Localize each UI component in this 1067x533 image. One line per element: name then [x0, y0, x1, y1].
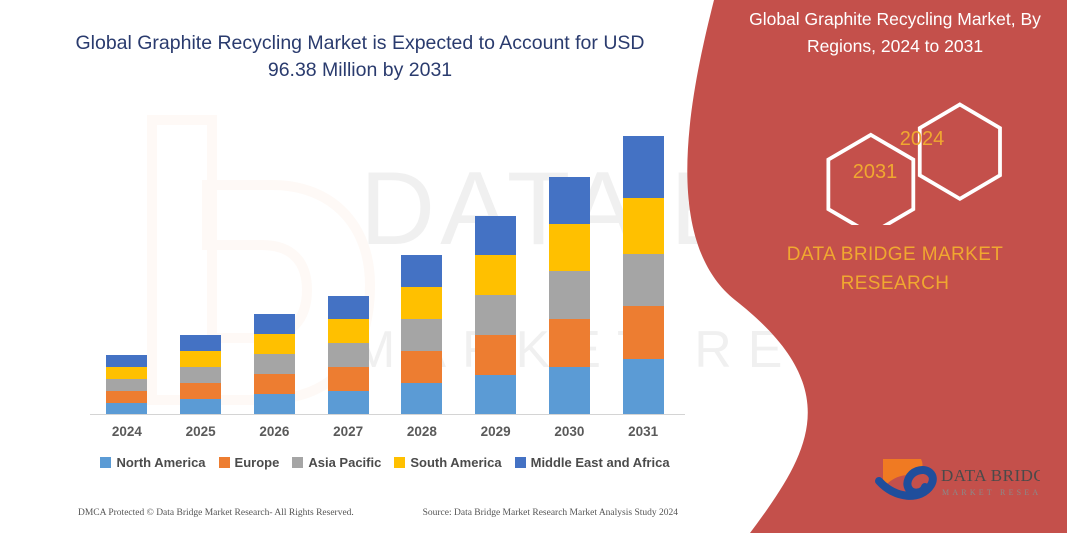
hexagon-2024-label: 2024: [900, 128, 945, 150]
bar-segment: [328, 319, 369, 343]
bar-segment: [180, 383, 221, 399]
legend-swatch-icon: [394, 457, 405, 468]
bar-segment: [549, 224, 590, 271]
footer-source: Source: Data Bridge Market Research Mark…: [423, 508, 678, 518]
bar-segment: [475, 255, 516, 295]
legend-item[interactable]: Middle East and Africa: [515, 455, 670, 470]
hexagon-group: 2024 2031: [680, 95, 1067, 225]
x-tick-label: 2025: [166, 424, 236, 439]
bar-segment: [180, 399, 221, 415]
bar-segment: [328, 367, 369, 391]
bar-segment: [401, 319, 442, 351]
logo-svg: DATA BRIDGE MARKET RESEARCH: [875, 455, 1040, 507]
bar-segment: [623, 306, 664, 359]
bar-segment: [623, 136, 664, 198]
bar-segment: [328, 296, 369, 319]
logo-text-line-2: MARKET RESEARCH: [942, 488, 1040, 497]
bar-segment: [254, 394, 295, 415]
bar-segment: [549, 367, 590, 415]
x-tick-label: 2031: [608, 424, 678, 439]
bar-segment: [254, 314, 295, 334]
x-tick-label: 2024: [92, 424, 162, 439]
data-bridge-logo: DATA BRIDGE MARKET RESEARCH: [875, 455, 1040, 507]
logo-text-line-1: DATA BRIDGE: [941, 466, 1040, 485]
bar-segment: [623, 198, 664, 254]
brand-line-1: DATA BRIDGE MARKET: [750, 240, 1040, 269]
x-tick-label: 2029: [461, 424, 531, 439]
x-tick-label: 2027: [313, 424, 383, 439]
bar-segment: [106, 367, 147, 379]
bar-column: [180, 335, 221, 415]
legend-swatch-icon: [100, 457, 111, 468]
legend-swatch-icon: [515, 457, 526, 468]
legend-item[interactable]: Asia Pacific: [292, 455, 381, 470]
x-tick-label: 2028: [387, 424, 457, 439]
bar-segment: [401, 255, 442, 287]
bar-segment: [549, 177, 590, 224]
legend-swatch-icon: [219, 457, 230, 468]
legend-item-label: Middle East and Africa: [531, 455, 670, 470]
footer: DMCA Protected © Data Bridge Market Rese…: [78, 508, 678, 518]
legend-swatch-icon: [292, 457, 303, 468]
hexagon-2031-label: 2031: [853, 161, 898, 183]
bar-segment: [254, 334, 295, 354]
bar-segment: [180, 351, 221, 367]
bar-segment: [254, 374, 295, 394]
bar-segment: [328, 343, 369, 367]
x-axis-tick-labels: 20242025202620272028202920302031: [90, 424, 680, 448]
bar-segment: [549, 319, 590, 367]
bar-segment: [623, 254, 664, 306]
bar-column: [401, 255, 442, 415]
bar-segment: [254, 354, 295, 374]
chart-title: Global Graphite Recycling Market is Expe…: [70, 30, 650, 84]
legend-item-label: South America: [410, 455, 501, 470]
bar-segment: [475, 335, 516, 375]
bar-segment: [180, 367, 221, 383]
brand-name: DATA BRIDGE MARKET RESEARCH: [750, 240, 1040, 298]
stacked-bar-chart: [90, 120, 680, 415]
hexagons-svg: 2024 2031: [680, 95, 1067, 225]
panel-title: Global Graphite Recycling Market, By Reg…: [735, 6, 1055, 60]
bar-segment: [475, 295, 516, 335]
infographic-canvas: DATA BRIDGE MARKET RESEARCH Global Graph…: [0, 0, 1067, 533]
bar-segment: [549, 271, 590, 319]
bar-segment: [106, 355, 147, 367]
bar-segment: [623, 359, 664, 415]
bar-column: [254, 314, 295, 415]
bar-segment: [401, 383, 442, 415]
x-tick-label: 2026: [239, 424, 309, 439]
hexagon-2024: [920, 104, 1000, 198]
bar-segment: [475, 375, 516, 415]
bar-segment: [401, 351, 442, 383]
legend-item-label: North America: [116, 455, 205, 470]
footer-copyright: DMCA Protected © Data Bridge Market Rese…: [78, 508, 354, 518]
x-axis-line: [90, 414, 685, 415]
bar-column: [328, 296, 369, 415]
bar-segment: [475, 216, 516, 255]
bar-column: [549, 177, 590, 415]
legend-item[interactable]: South America: [394, 455, 501, 470]
bar-segment: [180, 335, 221, 351]
legend-item[interactable]: Europe: [219, 455, 280, 470]
brand-line-2: RESEARCH: [750, 269, 1040, 298]
bar-column: [475, 216, 516, 415]
chart-legend: North AmericaEuropeAsia PacificSouth Ame…: [90, 455, 680, 470]
bar-segment: [106, 379, 147, 391]
bar-segment: [401, 287, 442, 319]
legend-item[interactable]: North America: [100, 455, 205, 470]
legend-item-label: Asia Pacific: [308, 455, 381, 470]
legend-item-label: Europe: [235, 455, 280, 470]
bar-column: [106, 355, 147, 415]
x-tick-label: 2030: [534, 424, 604, 439]
bar-segment: [328, 391, 369, 415]
bar-column: [623, 136, 664, 415]
bar-segment: [106, 391, 147, 403]
